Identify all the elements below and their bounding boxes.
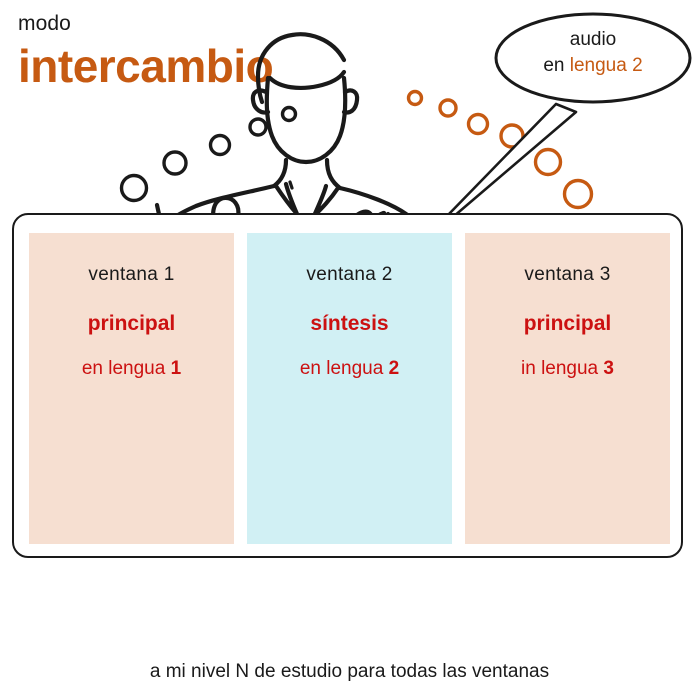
heading-title: intercambio bbox=[18, 40, 348, 92]
window-2-language: en lengua 2 bbox=[247, 358, 452, 380]
window-column-1[interactable]: ventana 1 principal en lengua 1 bbox=[29, 233, 234, 544]
window-1-language-number: 1 bbox=[171, 358, 182, 379]
window-3-language-number: 3 bbox=[603, 358, 614, 379]
bubble-line-audio: audio bbox=[505, 27, 681, 53]
window-1-language: en lengua 1 bbox=[29, 358, 234, 380]
window-3-label: ventana 3 bbox=[465, 264, 670, 286]
bubble-line-lengua-prefix: en bbox=[543, 55, 569, 76]
windows-panel: ventana 1 principal en lengua 1 ventana … bbox=[12, 213, 683, 558]
speech-bubble-text: audio en lengua 2 bbox=[505, 27, 681, 79]
window-2-language-prefix: en lengua bbox=[300, 358, 389, 379]
bubble-line-lengua-accent: lengua 2 bbox=[570, 55, 643, 76]
window-column-3[interactable]: ventana 3 principal in lengua 3 bbox=[465, 233, 670, 544]
window-2-language-number: 2 bbox=[389, 358, 400, 379]
heading-kicker: modo bbox=[18, 12, 348, 36]
window-3-language: in lengua 3 bbox=[465, 358, 670, 380]
black-circle-trail-left bbox=[122, 108, 296, 201]
footer-note: a mi nivel N de estudio para todas las v… bbox=[14, 660, 685, 684]
orange-circle-trail-right bbox=[409, 92, 592, 208]
window-2-role: síntesis bbox=[247, 312, 452, 336]
window-1-label: ventana 1 bbox=[29, 264, 234, 286]
window-1-role: principal bbox=[29, 312, 234, 336]
window-1-language-prefix: en lengua bbox=[82, 358, 171, 379]
window-3-role: principal bbox=[465, 312, 670, 336]
bubble-line-lengua: en lengua 2 bbox=[505, 53, 681, 79]
window-2-label: ventana 2 bbox=[247, 264, 452, 286]
heading-block: modo intercambio bbox=[18, 12, 348, 92]
windows-columns: ventana 1 principal en lengua 1 ventana … bbox=[29, 233, 670, 544]
window-3-language-prefix: in lengua bbox=[521, 358, 603, 379]
diagram-stage: modo intercambio bbox=[0, 0, 695, 571]
window-column-2[interactable]: ventana 2 síntesis en lengua 2 bbox=[247, 233, 452, 544]
